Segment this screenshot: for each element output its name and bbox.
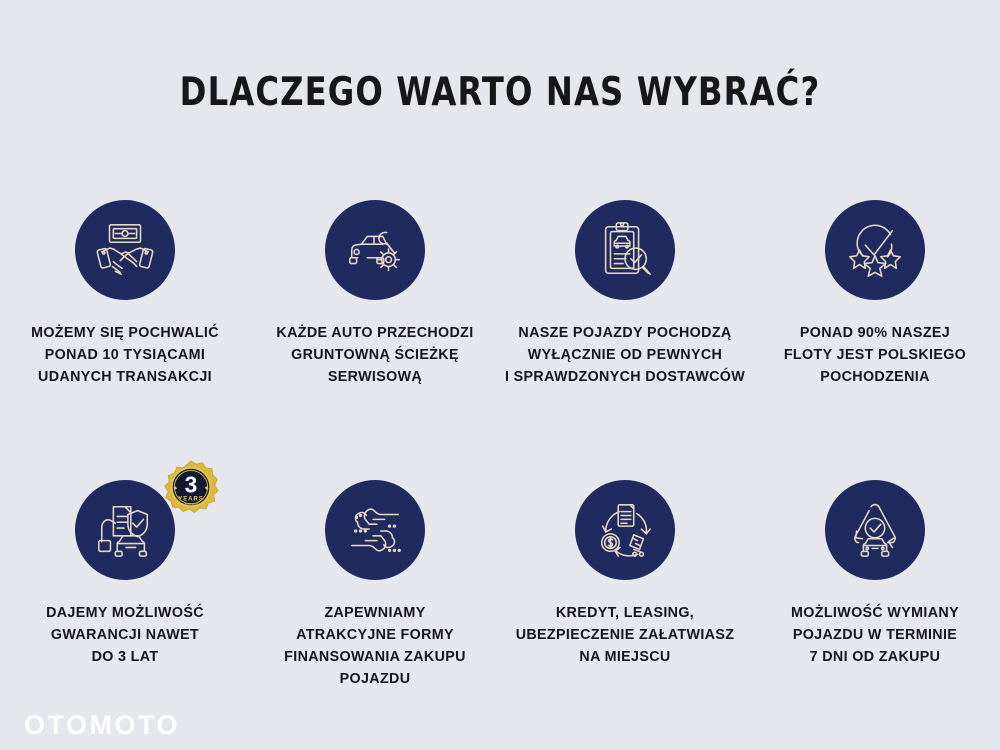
feature-caption-6: ZAPEWNIAMY ATRAKCYJNE FORMY FINANSOWANIA… [255,602,495,691]
feature-caption-8: MOŻLIWOŚĆ WYMIANY POJAZDU W TERMINIE 7 D… [755,602,995,668]
feature-caption-1: MOŻEMY SIĘ POCHWALIĆ PONAD 10 TYSIĄCAMI … [5,322,245,388]
icon-badge-wrap-5: 3 YEARS WARRANTY [75,480,175,580]
otomoto-logo: OTOMOTO [24,710,180,741]
page-title: DLACZEGO WARTO NAS WYBRAĆ? [40,70,960,115]
handshake-money-icon [75,200,175,300]
icon-badge-wrap-4 [825,200,925,300]
warranty-document-car-icon [75,480,175,580]
feature-caption-3: NASZE POJAZDY POCHODZĄ WYŁĄCZNIE OD PEWN… [505,322,745,388]
hands-key-exchange-icon [325,480,425,580]
feature-item-6: ZAPEWNIAMY ATRAKCYJNE FORMY FINANSOWANIA… [250,480,500,750]
feature-item-4: PONAD 90% NASZEJ FLOTY JEST POLSKIEGO PO… [750,200,1000,480]
feature-item-8: MOŻLIWOŚĆ WYMIANY POJAZDU W TERMINIE 7 D… [750,480,1000,750]
check-stars-quality-icon [825,200,925,300]
icon-badge-wrap-1 [75,200,175,300]
icon-badge-wrap-8 [825,480,925,580]
feature-item-2: KAŻDE AUTO PRZECHODZI GRUNTOWNĄ ŚCIEŻKĘ … [250,200,500,480]
icon-badge-wrap-2 [325,200,425,300]
clipboard-car-inspection-icon [575,200,675,300]
car-exchange-return-icon [825,480,925,580]
features-row-1: MOŻEMY SIĘ POCHWALIĆ PONAD 10 TYSIĄCAMI … [0,200,1000,480]
badge-sub: WARRANTY [181,503,202,507]
badge-number: 3 [185,471,198,497]
icon-badge-wrap-6 [325,480,425,580]
feature-item-1: MOŻEMY SIĘ POCHWALIĆ PONAD 10 TYSIĄCAMI … [0,200,250,480]
feature-caption-2: KAŻDE AUTO PRZECHODZI GRUNTOWNĄ ŚCIEŻKĘ … [255,322,495,388]
icon-badge-wrap-7 [575,480,675,580]
feature-caption-7: KREDYT, LEASING, UBEZPIECZENIE ZAŁATWIAS… [505,602,745,668]
badge-unit: YEARS [178,495,203,502]
icon-badge-wrap-3 [575,200,675,300]
promo-banner: DLACZEGO WARTO NAS WYBRAĆ? [0,0,1000,750]
feature-item-7: KREDYT, LEASING, UBEZPIECZENIE ZAŁATWIAS… [500,480,750,750]
feature-caption-5: DAJEMY MOŻLIWOŚĆ GWARANCJI NAWET DO 3 LA… [5,602,245,668]
car-service-wrench-gear-icon [325,200,425,300]
feature-item-3: NASZE POJAZDY POCHODZĄ WYŁĄCZNIE OD PEWN… [500,200,750,480]
financing-cycle-icon [575,480,675,580]
feature-caption-4: PONAD 90% NASZEJ FLOTY JEST POLSKIEGO PO… [755,322,995,388]
features-grid: MOŻEMY SIĘ POCHWALIĆ PONAD 10 TYSIĄCAMI … [0,200,1000,750]
three-years-badge-icon: 3 YEARS WARRANTY [163,460,219,516]
